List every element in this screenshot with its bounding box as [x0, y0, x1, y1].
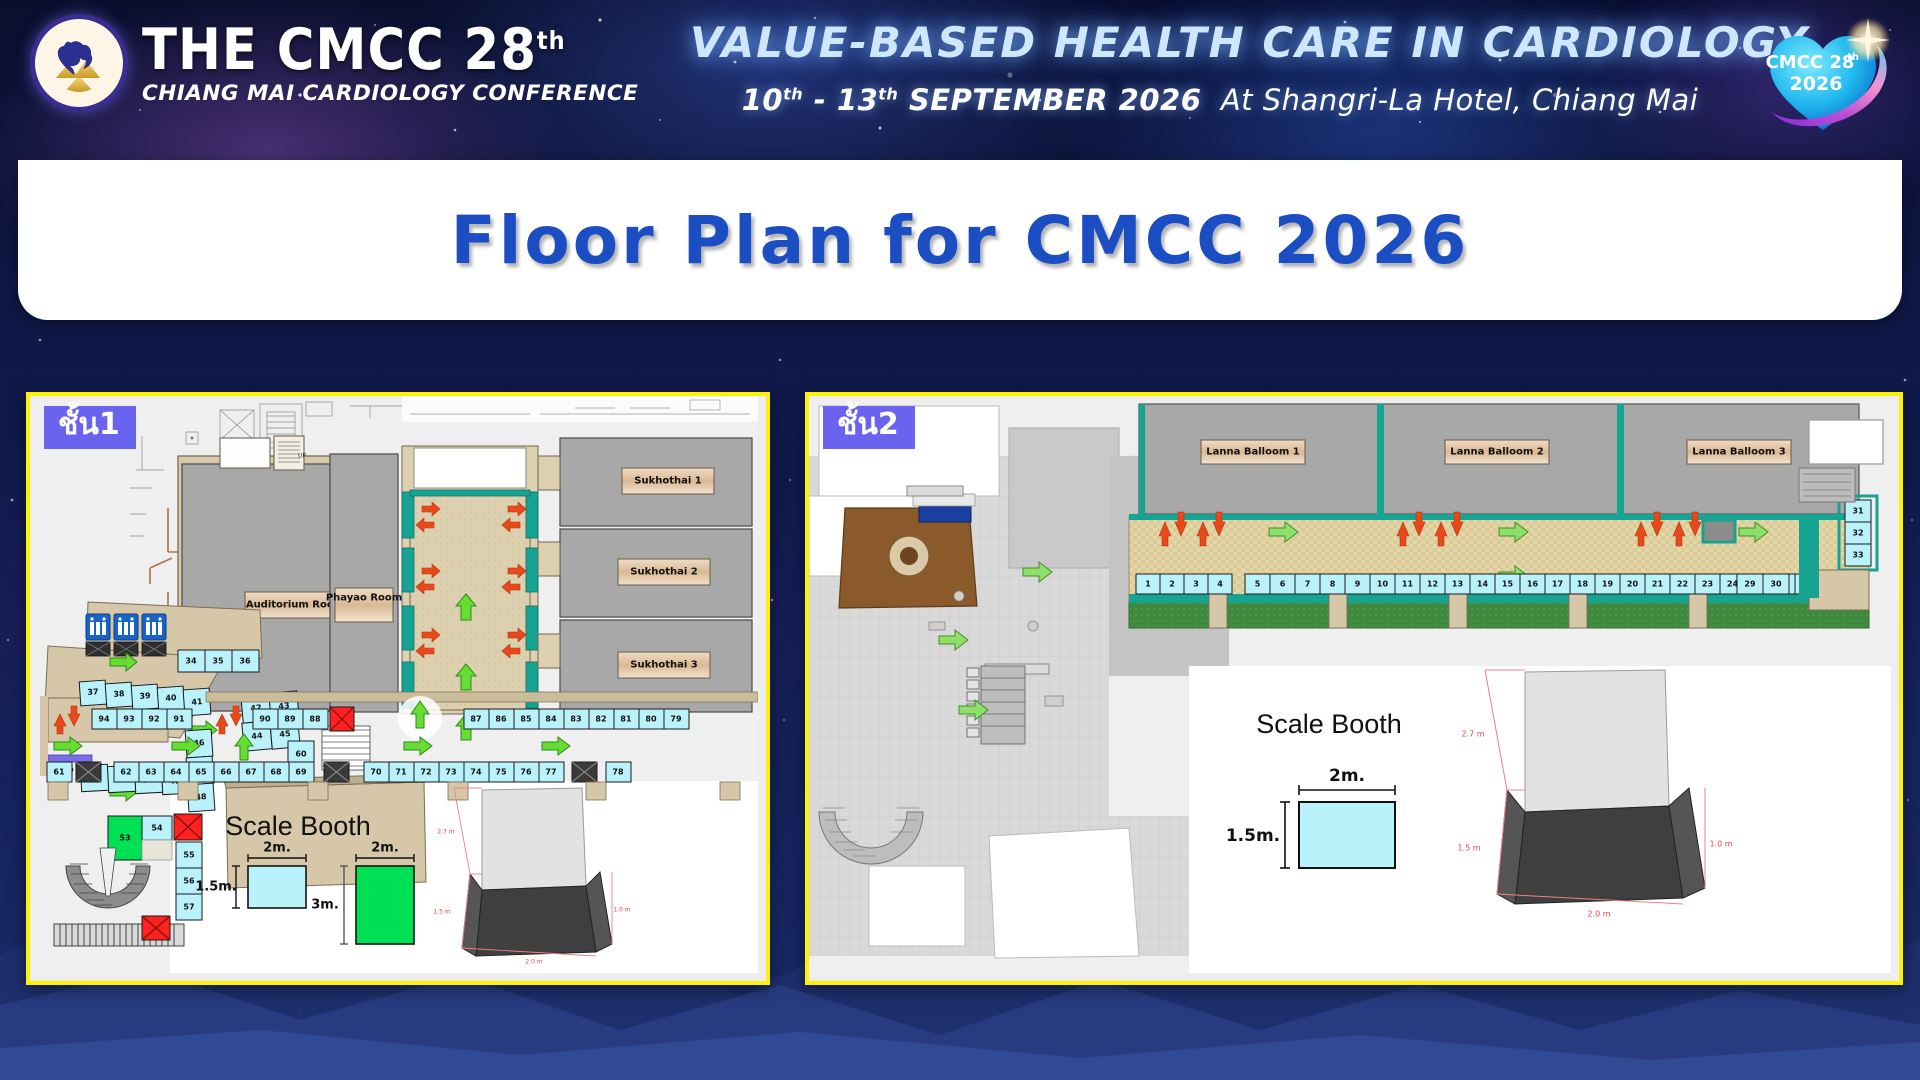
plan-text: 72: [420, 768, 431, 777]
booth-row-79-87: 87 86 85 84 83 82 81 80 79: [464, 709, 689, 729]
plan-text: 32: [1852, 529, 1863, 538]
booth-number-6: 6: [1280, 580, 1286, 589]
date-end: 13: [837, 83, 878, 117]
booth-group-31-33-floor2: 31 32 33: [1839, 496, 1877, 570]
plan-text: 57: [183, 903, 194, 912]
booth-row-88-90: 90 89 88: [253, 707, 354, 731]
plan-text: 56: [183, 877, 195, 886]
booth-group-34-36: 34 35 36: [178, 650, 259, 672]
plan-text: 38: [113, 689, 125, 699]
booth-number-7: 7: [1305, 580, 1311, 589]
plan-text: 55: [183, 851, 195, 860]
iso-side-height-label-floor2: 1.0 m: [1709, 840, 1732, 849]
seating-icons-floor1: [86, 614, 166, 656]
room-label-lanna-3: Lanna Balloom 3: [1692, 447, 1785, 458]
plan-text: 44: [251, 731, 263, 741]
page-title: Floor Plan for CMCC 2026: [451, 202, 1470, 279]
booth-number-9: 9: [1355, 580, 1361, 589]
heart-logo-icon: [30, 14, 128, 112]
plan-text: 70: [370, 768, 382, 777]
badge-line1: CMCC 28: [1766, 52, 1855, 73]
plan-text: 81: [620, 715, 632, 724]
booth-row-upper-floor1: 94 93 92 91: [92, 709, 192, 729]
plan-text: 40: [165, 693, 177, 703]
room-label-phayao-1: Phayao Room: [326, 593, 402, 604]
date-start: 10: [742, 83, 783, 117]
plan-text: 63: [145, 768, 156, 777]
booth-number-20: 20: [1627, 580, 1639, 589]
scale-large-height-label: 3m.: [311, 898, 339, 913]
brand-logo-block: THE CMCC 28th CHIANG MAI CARDIOLOGY CONF…: [30, 14, 638, 112]
brand-title: THE CMCC 28th: [142, 22, 638, 79]
title-band: Floor Plan for CMCC 2026: [18, 160, 1902, 320]
plan-text: 82: [595, 715, 606, 724]
booth-number-22: 22: [1677, 580, 1688, 589]
plan-text: 60: [295, 750, 307, 759]
booth-row-lower-floor1: 61 62 63 64 65 66 67 68 69 70 71 72 73 7…: [47, 762, 631, 782]
floor2-plan-drawing: Lanna Balloom 1 Lanna Balloom 2 Lanna Ba…: [809, 396, 1891, 973]
room-label-lanna-2: Lanna Balloom 2: [1450, 447, 1543, 458]
plan-text: 30: [1770, 580, 1782, 589]
date-month-year: SEPTEMBER 2026: [909, 83, 1201, 117]
plan-text: 65: [195, 768, 207, 777]
plan-text: 73: [445, 768, 456, 777]
conference-title-block: VALUE-BASED HEALTH CARE IN CARDIOLOGY 10…: [690, 18, 1750, 117]
heart-mountain-glyph: [48, 32, 110, 94]
plan-text: 91: [173, 715, 185, 724]
scale-small-width-label-floor2: 2m.: [1329, 766, 1365, 786]
booth-number-15: 15: [1502, 580, 1514, 589]
booth-number-13: 13: [1452, 580, 1463, 589]
scale-booth-title-floor2: Scale Booth: [1256, 709, 1402, 739]
iso-side-height-label-floor1: 1.0 m: [613, 907, 630, 914]
scale-booth-title-floor1: Scale Booth: [225, 811, 371, 841]
cmcc-heart-badge-icon: CMCC 28 th 2026: [1748, 8, 1898, 148]
room-label-sukhothai-3: Sukhothai 3: [630, 660, 698, 671]
booth-group-29-30-floor2: 29 30: [1737, 574, 1789, 594]
floor1-plan-drawing: Auditorium Room UP Phayao Room: [30, 396, 758, 973]
booth-number-11: 11: [1402, 580, 1414, 589]
page-header: THE CMCC 28th CHIANG MAI CARDIOLOGY CONF…: [0, 0, 1920, 160]
plan-text: 66: [220, 768, 232, 777]
booth-number-14: 14: [1477, 580, 1489, 589]
plan-text: 4: [1217, 580, 1223, 589]
iso-width-label-floor2: 2.0 m: [1587, 910, 1610, 919]
booth-number-17: 17: [1552, 580, 1563, 589]
floor2-badge: ชั้น2: [823, 406, 915, 449]
plan-text: 61: [53, 768, 65, 777]
plan-text: 39: [139, 691, 151, 701]
plan-text: 78: [612, 768, 624, 777]
plan-text: 3: [1193, 580, 1199, 589]
plan-text: 2: [1169, 580, 1175, 589]
plan-text: 79: [670, 715, 682, 724]
stair-up-label-floor1: UP: [298, 453, 306, 460]
plan-text: 45: [279, 729, 291, 739]
brand-subtitle: CHIANG MAI CARDIOLOGY CONFERENCE: [142, 83, 638, 105]
booth-number-8: 8: [1330, 580, 1336, 589]
plan-text: 33: [1852, 551, 1863, 560]
badge-line1-ordinal: th: [1847, 52, 1859, 63]
plan-text: 94: [98, 715, 110, 724]
led-screen-strip: [48, 755, 92, 762]
booth-group-1-4-floor2: 1 2 3 4: [1136, 574, 1232, 594]
scale-small-height-label-floor2: 1.5m.: [1226, 826, 1280, 846]
conference-theme: VALUE-BASED HEALTH CARE IN CARDIOLOGY: [690, 18, 1750, 67]
plan-text: 37: [87, 687, 99, 697]
booth-number-16: 16: [1527, 580, 1539, 589]
plan-text: 90: [259, 715, 271, 724]
badge-line2: 2026: [1790, 73, 1843, 95]
plan-text: 75: [495, 768, 507, 777]
booth-number-18: 18: [1577, 580, 1589, 589]
scale-small-height-label: 1.5m.: [195, 880, 237, 895]
plan-text: 64: [170, 768, 182, 777]
plan-text: 93: [123, 715, 134, 724]
plan-text: 1: [1145, 580, 1151, 589]
venue-text: At Shangri-La Hotel, Chiang Mai: [1221, 83, 1698, 117]
iso-depth-label-floor2: 1.5 m: [1457, 844, 1480, 853]
floor-plan-panel-floor2[interactable]: ชั้น2: [805, 392, 1903, 985]
plan-text: 54: [151, 824, 163, 833]
room-label-sukhothai-2: Sukhothai 2: [630, 567, 698, 578]
brand-ordinal: th: [537, 26, 566, 55]
booth-number-10: 10: [1377, 580, 1389, 589]
heart-badge-glyph: CMCC 28 th 2026: [1748, 8, 1898, 148]
brand-text: THE CMCC 28th CHIANG MAI CARDIOLOGY CONF…: [142, 22, 638, 105]
plan-text: 88: [309, 715, 321, 724]
iso-back-height-label-floor1: 2.7 m: [437, 829, 454, 836]
iso-back-height-label-floor2: 2.7 m: [1461, 730, 1484, 739]
plan-text: 35: [212, 657, 224, 666]
booth-number-19: 19: [1602, 580, 1614, 589]
date-end-ordinal: th: [878, 84, 898, 103]
plan-text: 69: [295, 768, 307, 777]
iso-depth-label-floor1: 1.5 m: [433, 909, 450, 916]
plan-text: 36: [239, 657, 251, 666]
room-label-lanna-1: Lanna Balloom 1: [1206, 447, 1299, 458]
plan-text: 80: [645, 715, 657, 724]
conference-date-venue: 10th - 13th SEPTEMBER 2026 At Shangri-La…: [690, 83, 1750, 117]
booth-number-21: 21: [1652, 580, 1664, 589]
scale-small-width-label: 2m.: [263, 841, 291, 856]
plan-text: 29: [1744, 580, 1756, 589]
plan-text: 53: [119, 834, 130, 843]
floor-plan-panel-floor1[interactable]: ชั้น1: [26, 392, 770, 985]
plan-text: 85: [520, 715, 532, 724]
plan-text: 34: [185, 657, 197, 666]
floor1-badge: ชั้น1: [44, 406, 136, 449]
plan-text: 68: [270, 768, 282, 777]
plan-text: 67: [245, 768, 256, 777]
plan-text: 76: [520, 768, 532, 777]
date-separator: -: [814, 83, 827, 117]
booth-number-5: 5: [1255, 580, 1261, 589]
plan-text: 86: [495, 715, 507, 724]
plan-text: 71: [395, 768, 407, 777]
booth-number-12: 12: [1427, 580, 1438, 589]
plan-text: 74: [470, 768, 482, 777]
plan-text: 41: [191, 697, 203, 707]
scale-large-width-label: 2m.: [371, 841, 399, 856]
plan-text: 62: [120, 768, 131, 777]
iso-width-label-floor1: 2.0 m: [525, 959, 542, 966]
plan-text: 77: [545, 768, 556, 777]
plan-text: 92: [148, 715, 159, 724]
booth-number-23: 23: [1702, 580, 1713, 589]
plan-text: 89: [284, 715, 296, 724]
date-start-ordinal: th: [783, 84, 803, 103]
plan-text: 84: [545, 715, 557, 724]
plan-text: 31: [1852, 507, 1864, 516]
plan-text: 83: [570, 715, 581, 724]
room-label-sukhothai-1: Sukhothai 1: [634, 476, 702, 487]
plan-text: 87: [470, 715, 481, 724]
